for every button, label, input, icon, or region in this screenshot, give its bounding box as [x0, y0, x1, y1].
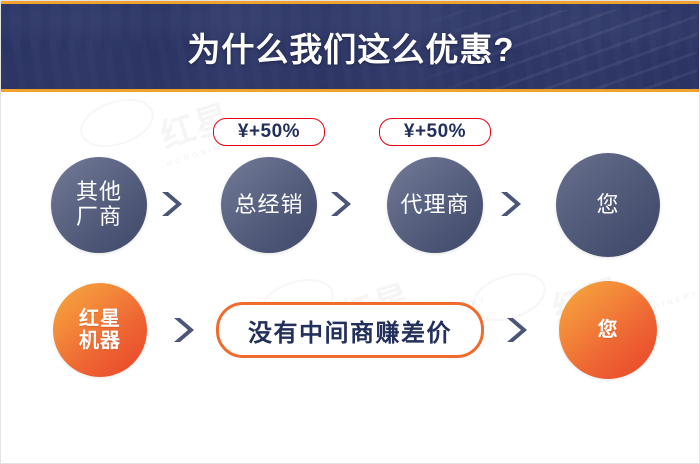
flow-node-other-manufacturer[interactable]: 其他 厂商 [51, 157, 147, 253]
flow-diagram-area: 红星 HONGXING MACHINERY 红星 HONGXING MACHIN… [1, 95, 699, 463]
chevron-right-icon [504, 315, 530, 345]
flow-node-label: 您 [598, 319, 619, 341]
flow-node-label: 机器 [79, 330, 121, 352]
flow-node-hongxing-machinery[interactable]: 红星 机器 [53, 283, 147, 377]
page-title: 为什么我们这么优惠? [1, 23, 700, 71]
chevron-right-icon [159, 189, 185, 219]
flow-node-label: 厂商 [76, 205, 122, 230]
flow-node-label: 代理商 [400, 193, 469, 218]
price-markup-badge: ¥+50% [379, 118, 491, 146]
flow-node-label: 您 [596, 193, 619, 218]
no-middleman-pill[interactable]: 没有中间商赚差价 [216, 302, 484, 358]
flow-row-direct: 红星 机器 没有中间商赚差价 您 [1, 277, 699, 387]
chevron-right-icon [171, 315, 197, 345]
chevron-right-icon [498, 189, 524, 219]
flow-node-label: 其他 [76, 180, 122, 205]
banner-header: 为什么我们这么优惠? [1, 1, 700, 92]
flow-node-label: 总经销 [234, 193, 303, 218]
flow-node-you-direct[interactable]: 您 [559, 281, 657, 379]
flow-row-distributors: 其他 厂商 ¥+50% 总经销 ¥+50% 代理商 [1, 95, 699, 265]
promo-banner: 为什么我们这么优惠? 红星 HONGXING MACHINERY 红星 HONG… [0, 0, 700, 464]
flow-node-agent[interactable]: 代理商 [387, 157, 483, 253]
flow-node-label: 红星 [79, 308, 121, 330]
price-markup-badge: ¥+50% [213, 118, 325, 146]
chevron-right-icon [328, 189, 354, 219]
flow-node-general-distributor[interactable]: 总经销 [221, 157, 317, 253]
flow-node-you[interactable]: 您 [556, 153, 660, 257]
